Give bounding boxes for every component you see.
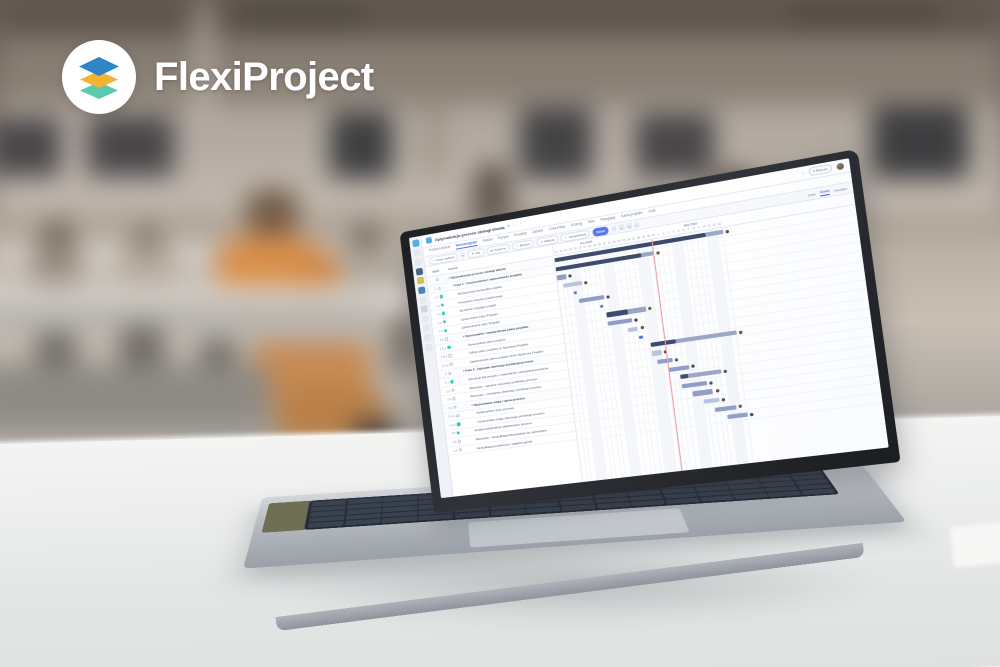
row-wbs: 1.6.3: [437, 362, 457, 369]
avatar[interactable]: [835, 161, 846, 171]
gantt-milestone[interactable]: [639, 335, 643, 339]
tab-plan[interactable]: Plan: [588, 219, 595, 226]
status-badge: [443, 320, 447, 324]
export-label: Eksport: [519, 241, 530, 247]
laptop-device: Optymalizacja procesu obsługi klienta ♥ …: [262, 228, 882, 608]
row-wbs: 1.3: [431, 310, 451, 317]
brand-logo: FlexiProject: [62, 40, 374, 114]
view-gantt[interactable]: Gantt: [820, 188, 830, 196]
keyboard-key[interactable]: [419, 514, 454, 521]
lock-icon: ☉: [564, 235, 567, 240]
tab-produkty[interactable]: Produkty: [514, 231, 527, 239]
view-kanban[interactable]: Kanban: [834, 186, 847, 193]
row-wbs: 1.5: [433, 327, 453, 334]
zoom-button-m[interactable]: M: [626, 223, 632, 229]
row-wbs: 2.7: [448, 447, 468, 453]
history-label: Historia: [544, 237, 555, 243]
row-wbs: 2.5: [446, 430, 466, 437]
status-badge: [436, 278, 440, 282]
tab-przeglądy[interactable]: Przeglądy: [600, 216, 616, 224]
tab-budżet[interactable]: Budżet: [482, 237, 493, 244]
task-grid-body: ▾Optymalizacja procesu obsługi klienta1▾…: [427, 256, 577, 456]
filter-label: Filtr: [475, 250, 480, 255]
bell-icon[interactable]: ☼: [801, 171, 805, 176]
columns-icon: ▤: [490, 248, 494, 253]
keyboard-key[interactable]: [631, 500, 666, 506]
row-wbs: 2: [438, 370, 458, 377]
keyboard-key[interactable]: [700, 495, 735, 501]
row-wbs: 1.6.2: [436, 353, 456, 360]
status-badge: [450, 380, 454, 384]
stacked-layers-icon: [74, 52, 124, 102]
permissions-label: Uprawnienia: [568, 232, 586, 239]
row-wbs: 1.4: [432, 319, 452, 326]
sidebar-item-settings[interactable]: [424, 343, 432, 351]
row-wbs: 2.3: [442, 396, 462, 403]
row-wbs: 2.2: [440, 387, 460, 394]
keyboard-key[interactable]: [561, 504, 596, 511]
zoom-button-k[interactable]: K: [634, 222, 640, 228]
plus-icon: +: [433, 258, 435, 262]
tab-scoring[interactable]: Scoring: [571, 221, 583, 229]
status-badge: [441, 303, 445, 307]
status-badge: [457, 422, 461, 426]
zoom-button-w[interactable]: W: [619, 225, 625, 231]
sidebar-item-budget[interactable]: [422, 324, 430, 332]
avatar[interactable]: [654, 249, 660, 255]
heart-icon[interactable]: ♥: [507, 224, 510, 228]
sidebar-item-resources[interactable]: [419, 296, 427, 304]
status-badge: [459, 448, 463, 452]
timeline-day: 13: [717, 222, 723, 226]
row-wbs: 2.4.2: [445, 421, 465, 428]
help-button[interactable]: ? Pomoc: [808, 164, 833, 176]
sidebar-item-home[interactable]: [413, 249, 421, 257]
sidebar-item-reports[interactable]: [417, 286, 425, 294]
columns-label: Kolumny: [494, 246, 506, 252]
funnel-icon: ▼: [471, 251, 475, 256]
status-badge: [448, 354, 452, 358]
gantt-body[interactable]: [554, 205, 888, 482]
keyboard-key[interactable]: [382, 516, 417, 523]
status-badge: [437, 286, 441, 290]
status-badge: [457, 431, 461, 435]
zoom-button-t[interactable]: T: [611, 226, 616, 232]
tab-zasoby[interactable]: Zasoby: [532, 228, 543, 236]
keyboard-key[interactable]: [455, 511, 490, 518]
keyboard-key[interactable]: [345, 519, 381, 526]
avatar[interactable]: [633, 317, 639, 323]
keyboard-key[interactable]: [596, 502, 631, 509]
status-badge: [442, 312, 446, 316]
keyboard-key[interactable]: [490, 509, 525, 516]
status-badge: [448, 371, 452, 375]
keyboard-key[interactable]: [801, 489, 835, 495]
status-badge: [449, 362, 453, 366]
tab-ryzyka[interactable]: Ryzyka: [498, 235, 509, 242]
project-avatar-icon: [426, 237, 433, 244]
status-badge: [445, 337, 449, 341]
gantt-chart: Kw 2025 Maj 2025 11121314151617181920212…: [553, 193, 889, 482]
status-badge: [453, 405, 457, 409]
new-task-label: Nowe zadanie: [436, 255, 455, 262]
sidebar-item-tasks[interactable]: [416, 277, 424, 285]
row-wbs: 1.6: [434, 336, 454, 343]
status-badge: [456, 414, 460, 418]
keyboard-key[interactable]: [526, 507, 561, 514]
status-badge: [452, 397, 456, 401]
chevron-down-icon[interactable]: ▾: [460, 252, 465, 257]
column-header-wbs: WBS: [426, 268, 446, 275]
status-badge: [447, 345, 451, 349]
help-label: Pomoc: [816, 167, 828, 173]
status-badge: [444, 329, 448, 333]
status-badge: [451, 388, 455, 392]
sidebar-item-docs[interactable]: [423, 334, 431, 342]
row-wbs: 2.4: [443, 404, 463, 411]
view-lista[interactable]: Lista: [808, 191, 816, 197]
keyboard-key[interactable]: [734, 493, 769, 499]
scale-label: Dzień: [596, 228, 605, 234]
tab-czat[interactable]: Czat: [648, 208, 656, 215]
row-wbs: 2.1: [439, 379, 459, 386]
gantt-row-grid: [554, 205, 888, 482]
sidebar-item-risk[interactable]: [421, 315, 429, 323]
row-wbs: 1.6.1: [435, 344, 455, 351]
brand-name: FlexiProject: [154, 55, 374, 100]
sidebar-item-portfolio[interactable]: [414, 258, 422, 266]
keyboard-key[interactable]: [665, 498, 700, 504]
status-badge: [458, 440, 462, 444]
clock-rewind-icon: ↺: [540, 239, 543, 244]
row-wbs: 1.2: [430, 302, 450, 309]
keyboard-key[interactable]: [767, 491, 801, 497]
row-wbs: 2.6: [447, 439, 467, 445]
row-wbs: 2.4.1: [444, 413, 464, 420]
avatar[interactable]: [708, 379, 714, 385]
row-wbs: 1.1: [429, 293, 449, 300]
logo-badge: [62, 40, 136, 114]
more-horizontal-icon[interactable]: ⋮: [519, 222, 523, 227]
sidebar-item-dashboard[interactable]: [412, 239, 420, 247]
status-badge: [440, 295, 444, 299]
sidebar-item-calendar[interactable]: [420, 305, 428, 313]
row-wbs: [427, 277, 447, 284]
keyboard-key[interactable]: [308, 521, 344, 528]
download-icon: ⇩: [516, 243, 519, 247]
star-icon[interactable]: ☆: [512, 223, 516, 228]
sidebar-item-projects[interactable]: [415, 268, 423, 276]
